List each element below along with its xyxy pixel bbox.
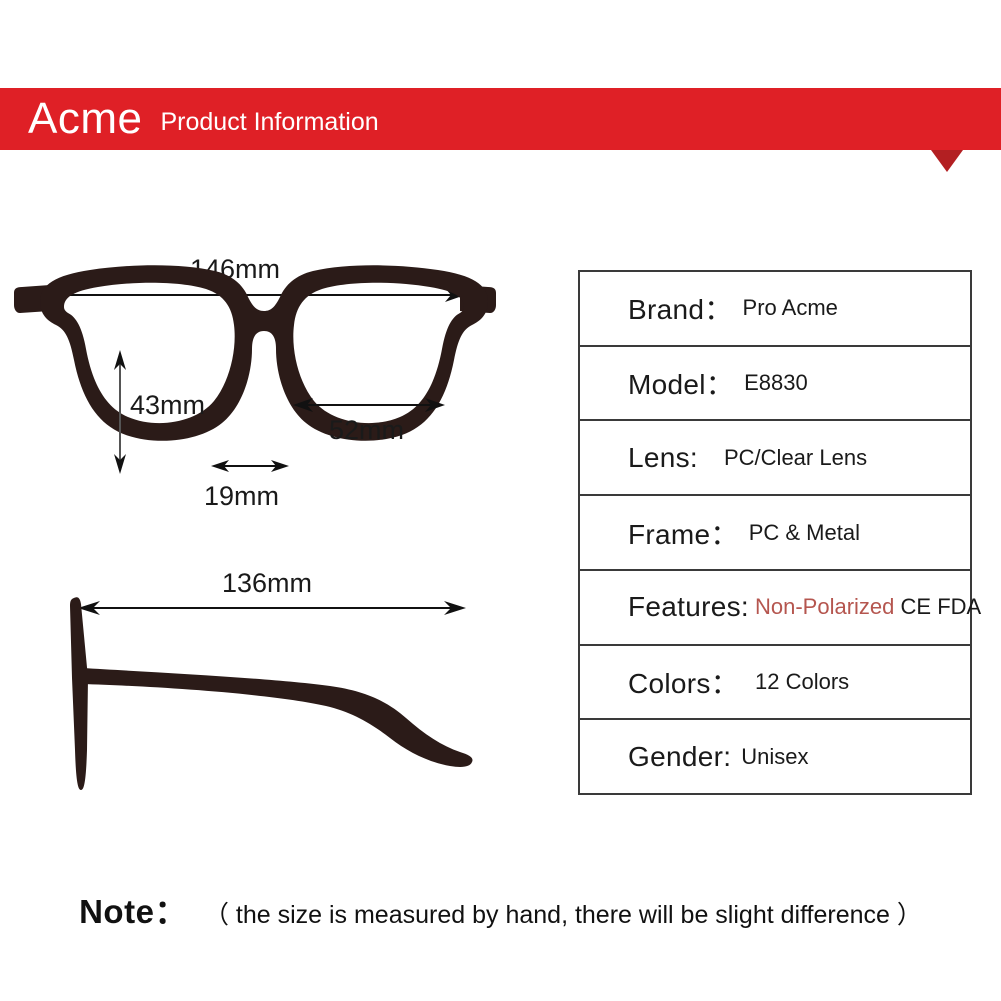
spec-row-colors: Colors： 12 Colors [580, 646, 970, 721]
dimension-arrow-bridge-width [208, 457, 292, 475]
note-section: Note： （ the size is measured by hand, th… [0, 885, 1001, 933]
dimension-label-lens-width: 52mm [329, 415, 404, 446]
diagram-column: 146mm 43mm [0, 150, 560, 850]
spec-value-features: Non-Polarized CE FDA [755, 594, 981, 620]
header-banner: Acme Product Information [0, 88, 1001, 150]
spec-value-brand: Pro Acme [743, 295, 838, 321]
header-subtitle: Product Information [160, 110, 378, 135]
spec-value-lens: PC/Clear Lens [724, 445, 867, 471]
spec-label-frame: Frame： [628, 513, 739, 553]
spec-value-frame: PC & Metal [749, 520, 860, 546]
spec-value-colors: 12 Colors [755, 669, 849, 695]
eyeglasses-temple-arm-illustration [30, 550, 490, 800]
spec-label-model: Model： [628, 363, 734, 403]
product-information-page: Acme Product Information 146mm [0, 0, 1001, 1001]
dimension-arrow-lens-height [110, 346, 130, 478]
dimension-arrow-lens-width [288, 395, 450, 415]
spec-row-model: Model： E8830 [580, 347, 970, 422]
spec-label-gender: Gender: [628, 741, 731, 773]
spec-value-gender: Unisex [741, 744, 808, 770]
header-banner-content: Acme Product Information [28, 88, 379, 150]
spec-value-features-highlight: Non-Polarized [755, 594, 894, 619]
spec-label-lens: Lens: [628, 442, 698, 474]
note-text: （ the size is measured by hand, there wi… [204, 895, 922, 931]
spec-row-lens: Lens: PC/Clear Lens [580, 421, 970, 496]
spec-label-colors: Colors： [628, 662, 739, 702]
spec-label-brand: Brand： [628, 288, 733, 328]
spec-label-features: Features: [628, 591, 749, 623]
spec-value-features-certification: CE FDA [901, 594, 982, 619]
brand-logo-text: Acme [28, 97, 142, 141]
dimension-label-bridge-width: 19mm [204, 481, 279, 512]
spec-row-frame: Frame： PC & Metal [580, 496, 970, 571]
spec-row-brand: Brand： Pro Acme [580, 272, 970, 347]
spec-value-model: E8830 [744, 370, 808, 396]
note-label: Note： [79, 885, 188, 933]
spec-row-features: Features: Non-Polarized CE FDA [580, 571, 970, 646]
dimension-label-lens-height: 43mm [130, 390, 205, 421]
spec-row-gender: Gender: Unisex [580, 720, 970, 793]
specification-table: Brand： Pro Acme Model： E8830 Lens: PC/Cl… [578, 270, 972, 795]
ribbon-notch-triangle [931, 150, 963, 172]
eyeglasses-front-view-illustration [10, 245, 500, 465]
